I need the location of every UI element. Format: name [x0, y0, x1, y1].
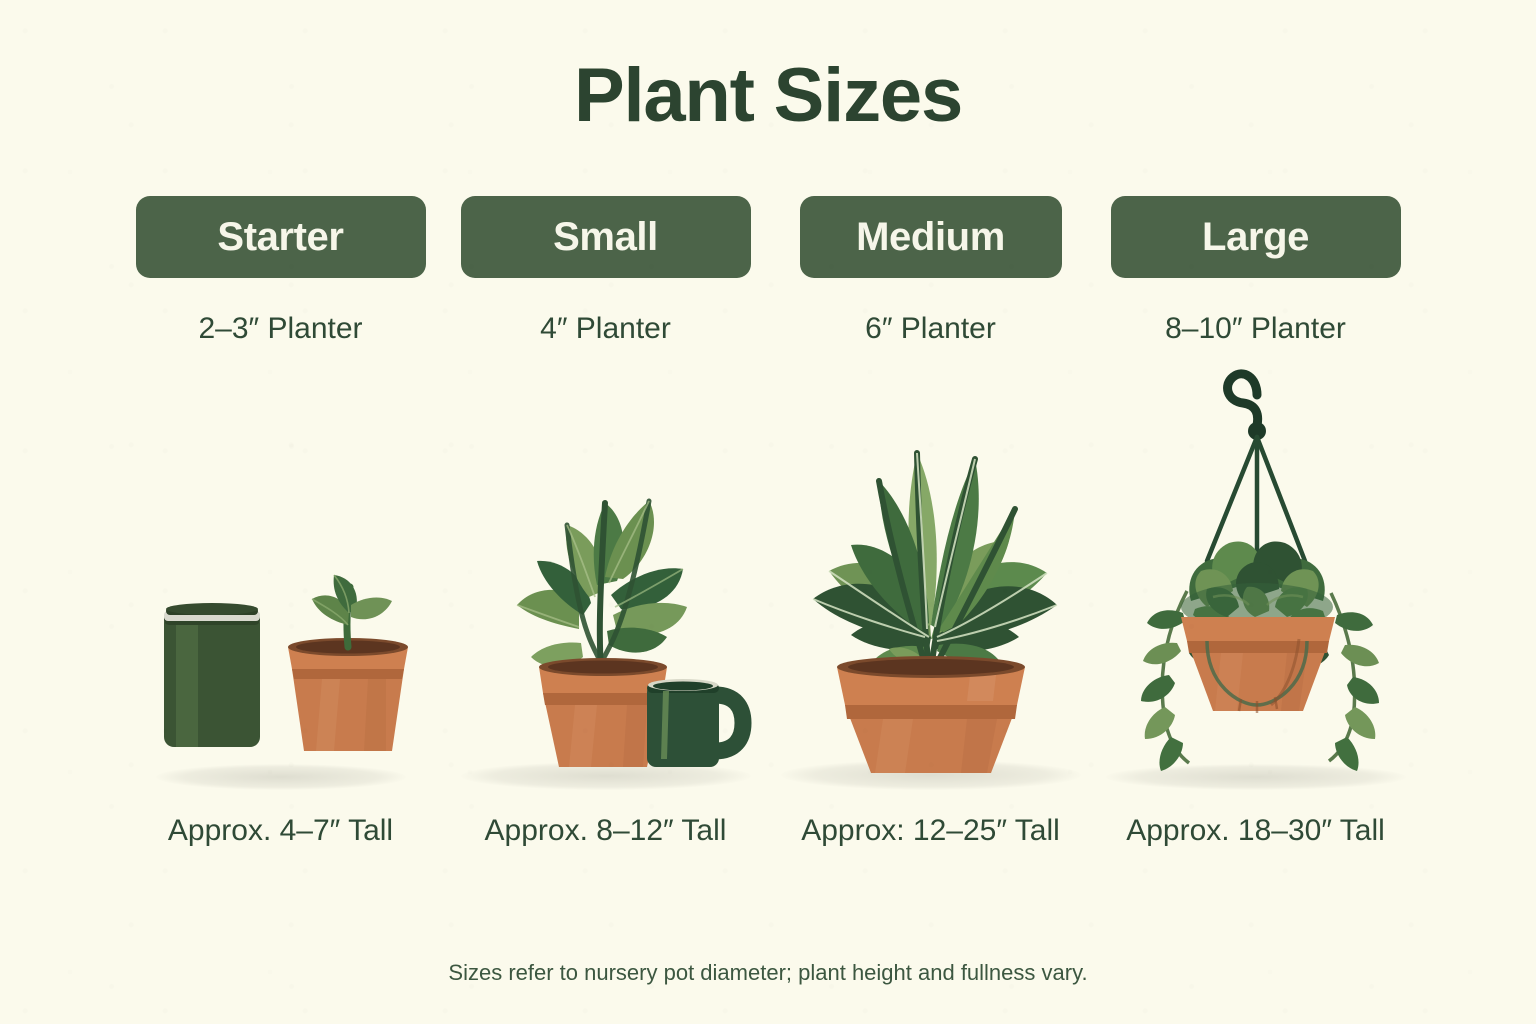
large-artwork [1091, 349, 1421, 784]
badge-small[interactable]: Small [461, 196, 751, 278]
foliage-icon [517, 501, 687, 669]
height-label-medium: Approx: 12–25″ Tall [768, 808, 1093, 855]
hanging-basket-icon [1091, 349, 1421, 779]
planter-label-large: 8–10″ Planter [1165, 312, 1346, 346]
illustration-small [443, 346, 768, 796]
illustration-medium [768, 346, 1093, 796]
planter-label-small: 4″ Planter [540, 312, 671, 346]
seedling-icon [312, 575, 392, 647]
badge-medium[interactable]: Medium [800, 196, 1062, 278]
mug-icon [647, 679, 743, 767]
height-label-starter: Approx. 4–7″ Tall [118, 808, 443, 855]
foliage-icon [813, 453, 1057, 671]
illustration-starter [118, 346, 443, 796]
leafy-plant-and-mug-icon [451, 419, 761, 779]
hanging-cords [1207, 437, 1305, 561]
hanging-hook-icon [1227, 374, 1265, 440]
size-columns: Starter 2–3″ Planter [118, 196, 1418, 936]
badge-large[interactable]: Large [1111, 196, 1401, 278]
badge-starter[interactable]: Starter [136, 196, 426, 278]
medium-artwork [771, 349, 1091, 784]
footnote: Sizes refer to nursery pot diameter; pla… [0, 960, 1536, 986]
page-title: Plant Sizes [0, 52, 1536, 139]
size-column-small[interactable]: Small 4″ Planter [443, 196, 768, 936]
size-column-medium[interactable]: Medium 6″ Planter [768, 196, 1093, 936]
seedling-pot-icon [288, 638, 408, 751]
illustration-large [1093, 346, 1418, 796]
height-label-large: Approx. 18–30″ Tall [1093, 808, 1418, 855]
starter-artwork [136, 529, 426, 784]
plant-pot-icon [837, 656, 1025, 773]
soda-can-and-seedling-icon [136, 529, 426, 779]
height-label-small: Approx. 8–12″ Tall [443, 808, 768, 855]
size-column-large[interactable]: Large 8–10″ Planter [1093, 196, 1418, 936]
soda-can-icon [164, 603, 260, 747]
planter-label-starter: 2–3″ Planter [198, 312, 362, 346]
planter-label-medium: 6″ Planter [865, 312, 996, 346]
hanging-pot-icon [1181, 617, 1335, 713]
size-column-starter[interactable]: Starter 2–3″ Planter [118, 196, 443, 936]
small-artwork [451, 419, 761, 784]
bushy-plant-in-pot-icon [771, 349, 1091, 779]
